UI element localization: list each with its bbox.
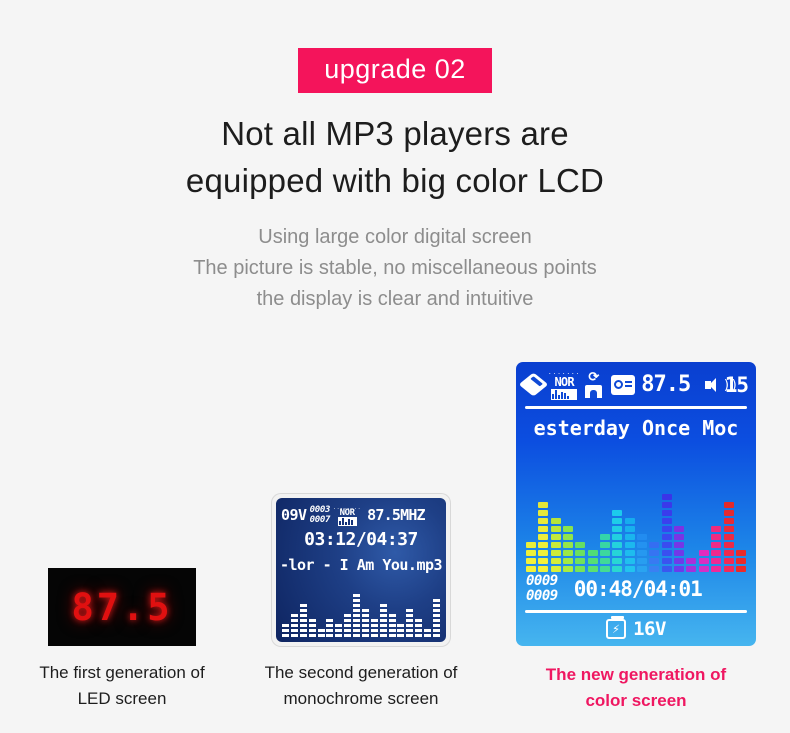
caption-led-line-1: The first generation of: [22, 660, 222, 686]
subtitle-line-1: Using large color digital screen: [0, 222, 790, 253]
speaker-icon: )): [705, 377, 722, 393]
headline-line-2: equipped with big color LCD: [0, 157, 790, 204]
led-screen: 87.5: [48, 568, 196, 646]
folder-glyph: [585, 385, 602, 398]
eq-column: [649, 542, 659, 572]
battery-voltage-value: 16V: [633, 618, 666, 640]
mono-spectrum-analyzer: [282, 579, 440, 637]
caption-mono-line-1: The second generation of: [246, 660, 476, 686]
eq-column: [526, 542, 536, 572]
eq-column: [674, 526, 684, 572]
mono-eq-column: [433, 599, 440, 637]
color-frequency-value: 87.5: [641, 372, 690, 397]
mono-eq-column: [415, 619, 422, 637]
monochrome-screen-surface: 09V 0003 0007 ........ NOR 87.5MHZ 03:12…: [276, 498, 446, 642]
color-count-top: 0009: [526, 574, 558, 589]
mono-count-bottom: 0007: [310, 515, 330, 525]
eq-column: [724, 502, 734, 572]
caption-color-line-2: color screen: [516, 688, 756, 714]
mono-eq-column: [318, 629, 325, 637]
headline-line-1: Not all MP3 players are: [0, 110, 790, 157]
page-title: Not all MP3 players are equipped with bi…: [0, 110, 790, 204]
battery-row: ⚡ 16V: [516, 614, 756, 644]
eq-column: [736, 550, 746, 572]
speaker-waves-glyph: )): [723, 380, 739, 392]
repeat-folder-icon: ⟳: [585, 371, 602, 398]
mono-count-top: 0003: [310, 505, 330, 515]
subtitle-line-3: the display is clear and intuitive: [0, 284, 790, 315]
mono-eq-column: [371, 619, 378, 637]
color-eq-bars-icon: [551, 389, 577, 400]
mono-eq-column: [309, 619, 316, 637]
mono-eq-mode-icon: ........ NOR: [333, 504, 361, 526]
mono-eq-bars-icon: [338, 517, 357, 526]
caption-mono: The second generation of monochrome scre…: [246, 660, 476, 712]
color-playback-info: 0009 0009 00:48/04:01: [526, 570, 746, 608]
divider-bottom: [525, 610, 747, 613]
mono-frequency-value: 87.5MHZ: [367, 506, 425, 524]
mono-voltage-value: 09V: [281, 506, 307, 524]
mono-eq-column: [344, 614, 351, 637]
color-elapsed-total: 00:48/04:01: [574, 577, 702, 601]
eq-column: [588, 550, 598, 572]
color-track-counter: 0009 0009: [526, 574, 558, 604]
color-lcd-screen: ....... NOR ⟳ 87.5 )) 15 esterday Once M…: [516, 362, 756, 646]
mono-track-counter: 0003 0007: [310, 505, 330, 525]
eq-column: [538, 502, 548, 572]
caption-color: The new generation of color screen: [516, 662, 756, 714]
eq-column: [600, 534, 610, 572]
mono-eq-column: [326, 619, 333, 637]
mono-time-value: 03:12/04:37: [276, 529, 446, 550]
badge-container: upgrade 02: [0, 48, 790, 93]
sd-card-icon: [519, 372, 549, 396]
eq-column: [563, 526, 573, 572]
subtitle-line-2: The picture is stable, no miscellaneous …: [0, 253, 790, 284]
led-frequency-value: 87.5: [48, 568, 196, 646]
device-comparison-row: 87.5 09V 0003 0007 ........ NOR 87.5MHZ: [0, 355, 790, 655]
eq-column: [625, 518, 635, 572]
divider-top: [525, 406, 747, 409]
eq-column: [612, 510, 622, 572]
eq-column: [575, 542, 585, 572]
mono-eq-column: [291, 614, 298, 637]
caption-led-line-2: LED screen: [22, 686, 222, 712]
mono-eq-column: [362, 609, 369, 637]
caption-color-line-1: The new generation of: [516, 662, 756, 688]
battery-icon: ⚡: [606, 619, 626, 639]
repeat-arrow-glyph: ⟳: [588, 371, 599, 384]
mono-eq-column: [424, 629, 431, 637]
eq-column: [551, 518, 561, 572]
mono-eq-column: [389, 614, 396, 637]
color-mode-label: NOR: [555, 376, 574, 388]
mono-eq-column: [353, 594, 360, 637]
caption-mono-line-2: monochrome screen: [246, 686, 476, 712]
caption-led: The first generation of LED screen: [22, 660, 222, 712]
mono-eq-column: [397, 624, 404, 637]
battery-bolt-glyph: ⚡: [612, 623, 620, 636]
mono-eq-column: [282, 624, 289, 637]
page-subtitle: Using large color digital screen The pic…: [0, 222, 790, 315]
caption-row: The first generation of LED screen The s…: [0, 660, 790, 720]
eq-column: [711, 526, 721, 572]
mono-status-bar: 09V 0003 0007 ........ NOR 87.5MHZ: [281, 504, 441, 526]
eq-column: [699, 550, 709, 572]
monochrome-screen: 09V 0003 0007 ........ NOR 87.5MHZ 03:12…: [272, 494, 450, 646]
color-spectrum-analyzer: [526, 462, 746, 572]
upgrade-badge: upgrade 02: [298, 48, 492, 93]
color-status-bar: ....... NOR ⟳ 87.5 )) 15: [524, 368, 748, 401]
mono-mode-label: NOR: [340, 509, 355, 517]
mono-eq-column: [406, 609, 413, 637]
volume-group: )) 15: [705, 373, 748, 397]
mono-eq-column: [300, 604, 307, 637]
mono-eq-column: [380, 604, 387, 637]
mono-eq-column: [335, 624, 342, 637]
eq-column: [637, 534, 647, 572]
color-track-title: esterday Once Moc: [516, 416, 756, 440]
nor-eq-icon: ....... NOR: [548, 370, 580, 400]
eq-column: [662, 494, 672, 572]
color-count-bottom: 0009: [526, 589, 558, 604]
mono-track-title: -lor - I Am You.mp3: [276, 556, 446, 574]
radio-icon: [611, 375, 635, 395]
